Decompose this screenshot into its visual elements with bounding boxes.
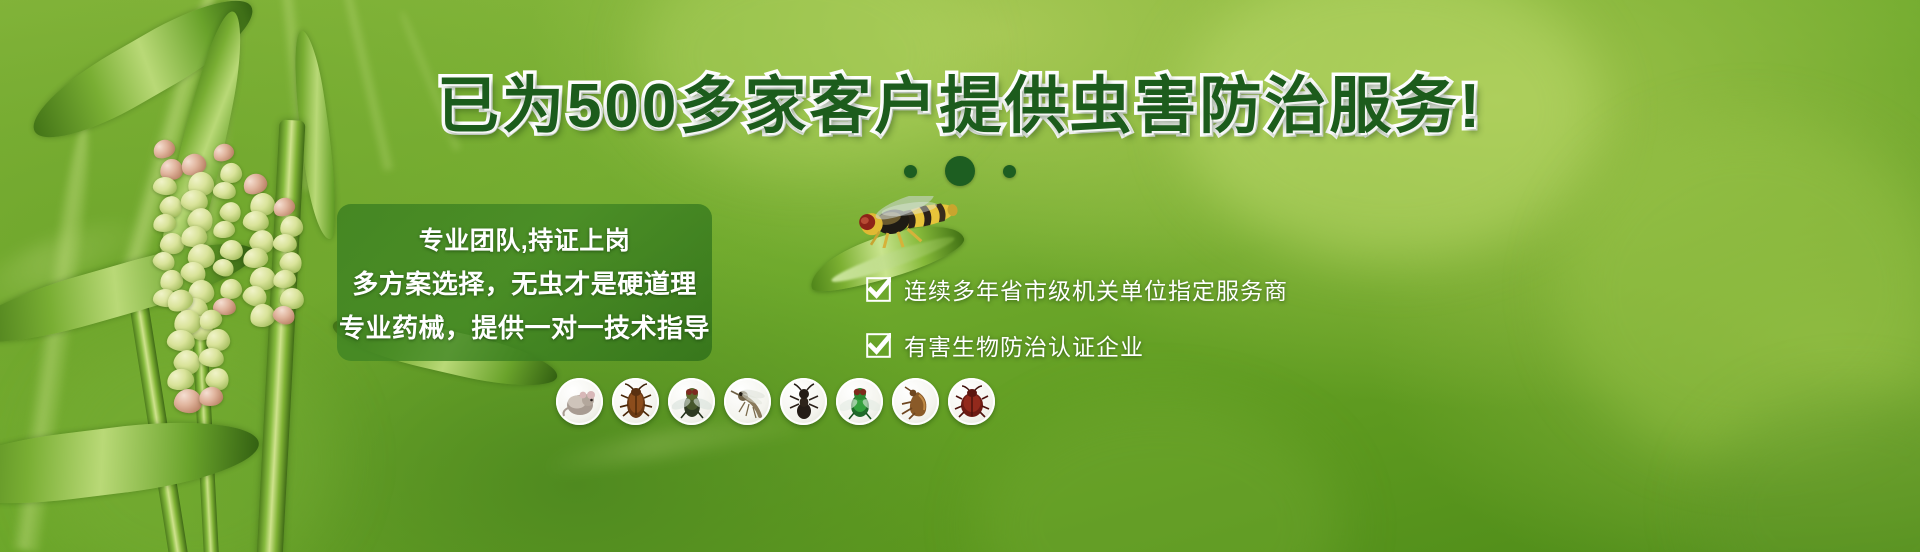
separator-dots: [0, 156, 1920, 186]
list-item: 有害生物防治认证企业: [866, 328, 1288, 362]
promotional-banner: 已为500多家客户提供虫害防治服务! 专业团队,持证上岗 多方案选择，无虫才是硬…: [0, 0, 1920, 552]
checkbox-checked-icon: [866, 333, 891, 358]
mosquito-icon[interactable]: 蚊: [724, 378, 771, 425]
selling-point-line-3: 专业药械，提供一对一技术指导: [339, 308, 710, 345]
blowfly-icon[interactable]: 绿头蝇: [836, 378, 883, 425]
large-dot-icon: [945, 156, 975, 186]
certification-text: 有害生物防治认证企业: [904, 328, 1144, 362]
certification-text: 连续多年省市级机关单位指定服务商: [904, 272, 1288, 306]
ant-icon[interactable]: 蚂蚁: [780, 378, 827, 425]
hoverfly-photo: [846, 196, 964, 248]
page-title: 已为500多家客户提供虫害防治服务!: [0, 76, 1920, 138]
small-dot-icon: [1003, 165, 1016, 178]
flower-bud: [173, 388, 203, 415]
selling-point-line-2: 多方案选择，无虫才是硬道理: [352, 264, 697, 301]
selling-points-panel: 专业团队,持证上岗 多方案选择，无虫才是硬道理 专业药械，提供一对一技术指导: [337, 204, 712, 361]
certifications-list: 连续多年省市级机关单位指定服务商 有害生物防治认证企业: [866, 272, 1288, 362]
flea-icon[interactable]: 跳蚤: [892, 378, 939, 425]
pest-icon-row: 鼠 蟑螂: [556, 378, 995, 425]
selling-point-line-1: 专业团队,持证上岗: [419, 221, 630, 257]
mouse-icon[interactable]: 鼠: [556, 378, 603, 425]
flower-bud: [219, 277, 244, 300]
housefly-icon[interactable]: 苍蝇: [668, 378, 715, 425]
small-dot-icon: [904, 165, 917, 178]
cockroach-icon[interactable]: 蟑螂: [612, 378, 659, 425]
checkbox-checked-icon: [866, 277, 891, 302]
bedbug-icon[interactable]: 臭虫: [948, 378, 995, 425]
list-item: 连续多年省市级机关单位指定服务商: [866, 272, 1288, 306]
